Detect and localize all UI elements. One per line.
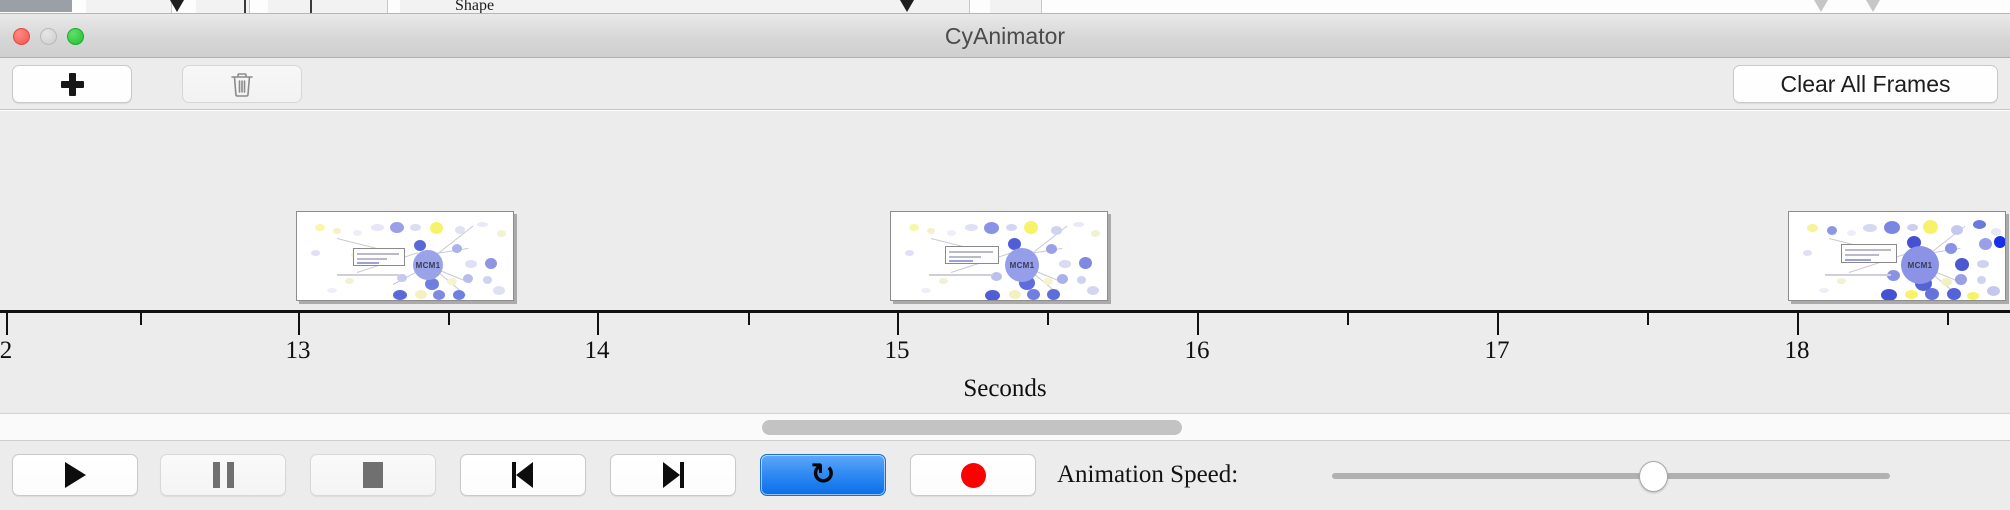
stop-icon (363, 462, 383, 488)
network-node (430, 222, 443, 234)
network-node (1047, 289, 1060, 300)
network-node (1847, 230, 1856, 236)
network-node (453, 290, 465, 300)
network-node (1051, 226, 1062, 235)
network-node (939, 278, 948, 284)
network-node (1043, 278, 1053, 285)
network-node (1863, 224, 1877, 232)
timeline-frame-thumbnail[interactable]: MCM1 (1788, 211, 2006, 301)
network-node (1059, 260, 1071, 268)
network-node (1819, 288, 1829, 293)
network-node (1807, 224, 1818, 232)
network-node (1905, 290, 1918, 299)
network-node (947, 230, 956, 236)
background-window-titlebar (0, 0, 72, 12)
network-node (1057, 274, 1068, 284)
record-button[interactable] (910, 454, 1036, 496)
axis-tick-major (6, 313, 8, 335)
network-node (1945, 243, 1957, 254)
axis-tick-label: 17 (1485, 337, 1510, 365)
annotation-line (357, 258, 387, 260)
axis-tick-label: 16 (1185, 337, 1210, 365)
network-node (1925, 288, 1939, 300)
network-node (1881, 289, 1897, 301)
timeline-scrollbar[interactable] (0, 413, 2010, 441)
network-node (1951, 225, 1963, 235)
play-icon (65, 462, 86, 488)
network-node (965, 224, 978, 231)
network-node (1973, 220, 1986, 229)
clear-all-frames-button[interactable]: Clear All Frames (1733, 65, 1998, 103)
network-node (1994, 236, 2006, 248)
network-node (393, 290, 407, 300)
axis-tick-minor (448, 313, 450, 325)
axis-tick-major (1497, 313, 1499, 335)
axis-tick-label: 18 (1785, 337, 1810, 365)
axis-tick-major (597, 313, 599, 335)
network-node (1803, 250, 1812, 256)
network-node (1837, 278, 1846, 284)
network-node (1077, 276, 1086, 284)
delete-frame-button[interactable] (182, 65, 302, 103)
timeline-axis (0, 310, 2010, 313)
network-node (1967, 292, 1979, 300)
background-chunk (990, 0, 1042, 14)
timeline-frame-thumbnail[interactable]: MCM1 (890, 211, 1108, 301)
network-node (1947, 288, 1961, 300)
axis-tick-label: 13 (286, 337, 311, 365)
network-annotation (945, 246, 999, 264)
network-node (1009, 290, 1021, 299)
network-node (415, 290, 427, 299)
network-node (485, 258, 497, 269)
network-thumbnail: MCM1 (297, 212, 513, 300)
background-wedge-icon (170, 0, 184, 12)
annotation-line (949, 256, 981, 258)
loop-button[interactable]: ↻ (760, 454, 886, 496)
network-node (927, 228, 935, 234)
background-chunk (268, 0, 388, 14)
network-node (1955, 274, 1967, 285)
network-node (493, 286, 505, 295)
network-node (1884, 221, 1900, 234)
network-node (1091, 230, 1100, 237)
annotation-caption (1825, 274, 1891, 276)
animation-speed-label: Animation Speed: (1057, 454, 1238, 496)
network-node (1977, 276, 1986, 284)
skip-end-button[interactable] (610, 454, 736, 496)
network-node (483, 276, 492, 284)
skip-back-icon (510, 462, 536, 488)
title-bar: CyAnimator (0, 14, 2010, 58)
record-icon (961, 463, 986, 488)
network-node (353, 230, 362, 236)
network-node (1955, 258, 1969, 271)
network-hub-node: MCM1 (1901, 246, 1939, 284)
annotation-line (1845, 254, 1879, 256)
network-annotation (353, 248, 405, 266)
network-node (447, 278, 457, 285)
pause-button[interactable] (160, 454, 286, 496)
axis-tick-minor (748, 313, 750, 325)
axis-tick-major (897, 313, 899, 335)
loop-icon: ↻ (810, 460, 835, 490)
network-thumbnail: MCM1 (891, 212, 1107, 300)
annotation-line (357, 262, 379, 264)
network-node (984, 222, 999, 234)
background-window-label: Shape (455, 0, 494, 14)
axis-tick-minor (1947, 313, 1949, 325)
network-node (1977, 260, 1989, 268)
network-node (1991, 228, 2001, 236)
network-node (327, 288, 337, 293)
network-node (905, 250, 914, 256)
network-node (465, 260, 477, 268)
network-node (1987, 286, 2000, 296)
axis-tick-label: 2 (0, 337, 12, 365)
network-thumbnail: MCM1 (1789, 212, 2005, 300)
background-wedge-icon (1814, 0, 1828, 12)
axis-tick-minor (140, 313, 142, 325)
network-hub-node: MCM1 (413, 250, 443, 280)
animation-speed-slider[interactable] (1332, 473, 1890, 479)
network-hub-node: MCM1 (1005, 248, 1039, 282)
axis-tick-major (298, 313, 300, 335)
annotation-line (357, 253, 399, 255)
network-node (390, 222, 404, 233)
network-node (1827, 226, 1837, 235)
stop-button[interactable] (310, 454, 436, 496)
plus-icon (60, 72, 84, 96)
network-node (1073, 222, 1084, 227)
network-node (1941, 278, 1952, 286)
scrollbar-thumb[interactable] (762, 420, 1182, 435)
axis-title: Seconds (0, 375, 2010, 403)
network-node (345, 278, 354, 284)
network-node (477, 222, 488, 227)
network-node (1024, 221, 1038, 234)
network-node (463, 274, 473, 283)
network-node (1079, 257, 1092, 269)
network-node (333, 228, 341, 234)
network-node (433, 290, 445, 300)
annotation-line (1845, 249, 1891, 251)
axis-tick-major (1797, 313, 1799, 335)
network-annotation (1841, 244, 1897, 263)
network-node (909, 224, 919, 231)
axis-tick-label: 14 (585, 337, 610, 365)
axis-tick-minor (1647, 313, 1649, 325)
network-node (315, 224, 325, 231)
background-chunk (196, 0, 250, 14)
network-node (455, 226, 465, 234)
network-node (311, 250, 320, 256)
network-node (410, 224, 421, 231)
background-wedge-icon (900, 0, 914, 12)
cyanimator-window: Shape CyAnimator Clear All Frames (0, 0, 2010, 510)
add-frame-button[interactable] (12, 65, 132, 103)
network-node (1046, 244, 1057, 254)
network-node (452, 244, 462, 253)
skip-forward-icon (660, 462, 686, 488)
network-node (1923, 220, 1938, 234)
network-node (1027, 289, 1040, 300)
network-node (985, 290, 1000, 301)
timeline-frame-thumbnail[interactable]: MCM1 (296, 211, 514, 301)
annotation-caption (337, 274, 399, 276)
background-window-strip: Shape (0, 0, 2010, 14)
background-tick (310, 0, 312, 13)
trash-icon (229, 70, 255, 98)
network-node (497, 230, 506, 237)
annotation-caption (929, 274, 993, 276)
axis-tick-minor (1347, 313, 1349, 325)
background-chunk (86, 0, 172, 14)
annotation-line (949, 251, 993, 253)
timeline-panel[interactable]: MCM1 (0, 110, 2010, 413)
axis-tick-major (1197, 313, 1199, 335)
background-tick (244, 0, 246, 13)
animation-speed-slider-thumb[interactable] (1639, 461, 1668, 492)
network-node (371, 224, 384, 231)
pause-icon (213, 462, 234, 488)
network-node (1979, 238, 1992, 250)
network-node (921, 288, 931, 293)
play-button[interactable] (12, 454, 138, 496)
network-node (1087, 286, 1099, 295)
transport-bar: ↻ Animation Speed: (0, 441, 2010, 510)
axis-tick-minor (1047, 313, 1049, 325)
background-wedge-icon (1866, 0, 1880, 12)
network-node (1907, 224, 1918, 231)
frame-toolbar: Clear All Frames (0, 58, 2010, 110)
axis-tick-label: 15 (885, 337, 910, 365)
window-title: CyAnimator (0, 14, 2010, 58)
skip-start-button[interactable] (460, 454, 586, 496)
annotation-line (949, 260, 973, 262)
annotation-line (1845, 259, 1871, 261)
network-node (1006, 224, 1017, 231)
